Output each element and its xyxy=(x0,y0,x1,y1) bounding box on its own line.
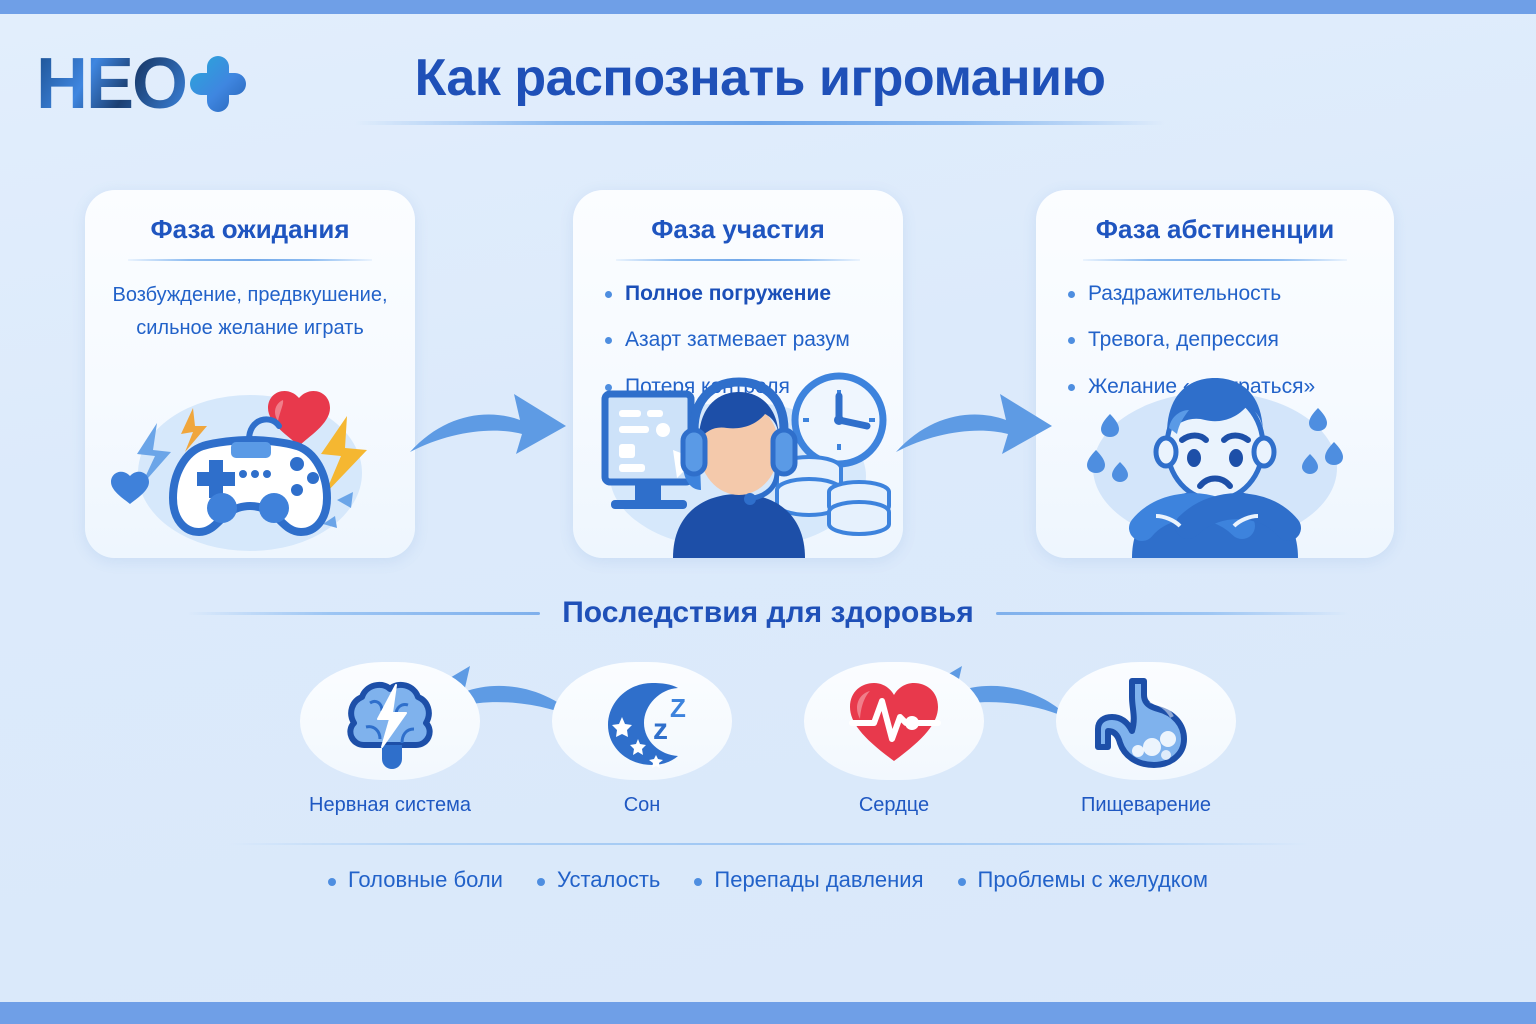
symptoms-divider xyxy=(228,843,1308,845)
health-label: Сердце xyxy=(804,794,984,817)
card-divider xyxy=(128,259,372,261)
health-item-heart[interactable]: Сердце xyxy=(804,662,984,817)
phase-card-anticipation[interactable]: Фаза ожидания Возбуждение, предвкушение,… xyxy=(85,190,415,558)
section-title: Последствия для здоровья xyxy=(562,596,974,630)
sad-person-illustration xyxy=(1036,368,1394,558)
health-consequences-section: Последствия для здоровья Нервная си xyxy=(0,596,1536,893)
moon-zzz-icon: z Z xyxy=(552,662,732,780)
brain-lightning-icon xyxy=(300,662,480,780)
health-item-sleep[interactable]: z Z Сон xyxy=(552,662,732,817)
infographic-canvas: HEO Как распознать игроманию Фаза ожидан… xyxy=(0,0,1536,1024)
health-item-nervous-system[interactable]: Нервная система xyxy=(300,662,480,817)
health-label: Сон xyxy=(552,794,732,817)
list-item: Тревога, депрессия xyxy=(1064,325,1394,355)
top-accent-bar xyxy=(0,0,1536,14)
card-divider xyxy=(616,259,860,261)
section-divider-right xyxy=(996,612,1348,615)
health-item-digestion[interactable]: Пищеварение xyxy=(1056,662,1236,817)
phase-card-involvement[interactable]: Фаза участия Полное погружение Азарт зат… xyxy=(573,190,903,558)
title-divider xyxy=(355,121,1165,125)
header: HEO Как распознать игроманию xyxy=(0,14,1536,144)
brand-logo: HEO xyxy=(36,48,246,120)
phase-card-title: Фаза ожидания xyxy=(85,214,415,245)
phase-card-title: Фаза абстиненции xyxy=(1036,214,1394,245)
list-item: Усталость xyxy=(537,867,660,893)
health-icon-row: Нервная система z Z Сон xyxy=(0,662,1536,817)
phase-description: Возбуждение, предвкушение, сильное желан… xyxy=(85,279,415,345)
card-divider xyxy=(1083,259,1348,261)
plus-icon xyxy=(190,56,246,112)
arrow-right-anticipation-to-involvement xyxy=(404,386,572,466)
title-block: Как распознать игроманию xyxy=(310,50,1210,125)
list-item: Азарт затмевает разум xyxy=(601,325,903,355)
arrow-right-involvement-to-withdrawal xyxy=(890,386,1058,466)
list-item: Головные боли xyxy=(328,867,503,893)
health-label: Нервная система xyxy=(300,794,480,817)
list-item: Проблемы с желудком xyxy=(958,867,1209,893)
section-divider-left xyxy=(188,612,540,615)
list-item: Полное погружение xyxy=(601,279,903,309)
gamer-monitor-clock-coins-illustration xyxy=(573,368,903,558)
page-title: Как распознать игроманию xyxy=(310,50,1210,107)
health-label: Пищеварение xyxy=(1056,794,1236,817)
svg-text:z: z xyxy=(653,713,668,746)
heart-pulse-icon xyxy=(804,662,984,780)
list-item: Перепады давления xyxy=(694,867,923,893)
gamepad-heart-illustration xyxy=(85,368,415,558)
list-item: Раздражительность xyxy=(1064,279,1394,309)
bottom-accent-bar xyxy=(0,1002,1536,1024)
phase-card-withdrawal[interactable]: Фаза абстиненции Раздражительность Трево… xyxy=(1036,190,1394,558)
symptom-list: Головные боли Усталость Перепады давлени… xyxy=(0,867,1536,893)
stomach-icon xyxy=(1056,662,1236,780)
brand-logo-text: HEO xyxy=(36,48,186,120)
phase-cycle: Фаза ожидания Возбуждение, предвкушение,… xyxy=(0,190,1536,568)
phase-card-title: Фаза участия xyxy=(573,214,903,245)
phase-card-body: Возбуждение, предвкушение, сильное желан… xyxy=(85,279,415,345)
section-header: Последствия для здоровья xyxy=(188,596,1348,630)
svg-text:Z: Z xyxy=(670,693,686,723)
